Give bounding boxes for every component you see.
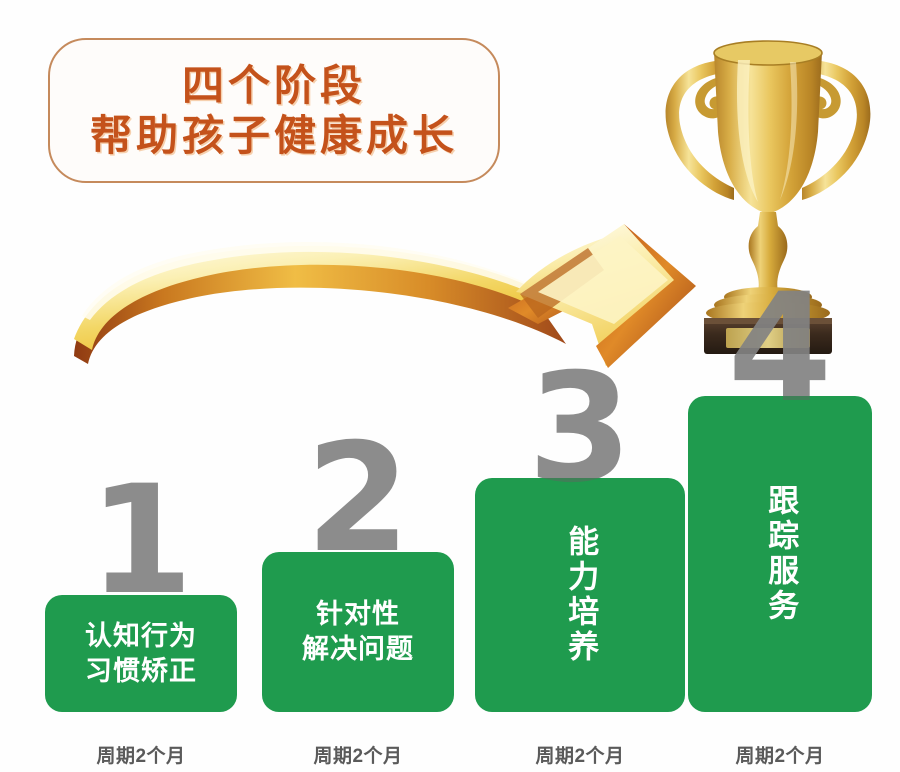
step-number-2: 2 bbox=[306, 438, 410, 561]
step-column-3[interactable]: 3 3 能力培养 周期2个月 bbox=[475, 350, 685, 772]
step-card-3[interactable]: 3 能力培养 bbox=[475, 478, 685, 712]
title-line-primary: 四个阶段 bbox=[182, 62, 366, 109]
stage-steps: 1 1 认知行为 习惯矫正 周期2个月 2 2 针对性 解决问题 周期2个月 3 bbox=[0, 350, 900, 772]
step-caption-1: 周期2个月 bbox=[96, 741, 185, 768]
step-caption-2: 周期2个月 bbox=[313, 741, 402, 768]
step-number-4-tint: 4 bbox=[728, 396, 832, 411]
step-card-2[interactable]: 2 针对性 解决问题 bbox=[262, 552, 454, 712]
step-caption-3: 周期2个月 bbox=[535, 741, 624, 768]
step-card-1[interactable]: 1 认知行为 习惯矫正 bbox=[45, 595, 237, 712]
infographic-canvas: 四个阶段 帮助孩子健康成长 bbox=[0, 0, 900, 772]
curved-gold-arrow-icon bbox=[68, 196, 698, 376]
step-label-4: 跟踪服务 bbox=[762, 484, 799, 624]
step-number-3: 3 bbox=[528, 368, 632, 491]
step-number-3-tint: 3 bbox=[528, 478, 632, 491]
gold-trophy-icon bbox=[638, 16, 898, 356]
step-column-2[interactable]: 2 2 针对性 解决问题 周期2个月 bbox=[262, 350, 454, 772]
step-label-2: 针对性 解决问题 bbox=[302, 597, 414, 666]
step-number-2-tint: 2 bbox=[306, 552, 410, 561]
step-label-3: 能力培养 bbox=[562, 525, 599, 665]
title-line-secondary: 帮助孩子健康成长 bbox=[90, 112, 458, 159]
step-column-4[interactable]: 4 4 跟踪服务 周期2个月 bbox=[688, 350, 872, 772]
step-column-1[interactable]: 1 1 认知行为 习惯矫正 周期2个月 bbox=[45, 350, 237, 772]
title-plaque: 四个阶段 帮助孩子健康成长 bbox=[48, 38, 500, 183]
step-number-1: 1 bbox=[89, 480, 193, 603]
step-caption-4: 周期2个月 bbox=[735, 741, 824, 768]
step-number-1-tint: 1 bbox=[89, 595, 193, 603]
step-card-4[interactable]: 4 跟踪服务 bbox=[688, 396, 872, 712]
step-label-1: 认知行为 习惯矫正 bbox=[85, 619, 197, 688]
